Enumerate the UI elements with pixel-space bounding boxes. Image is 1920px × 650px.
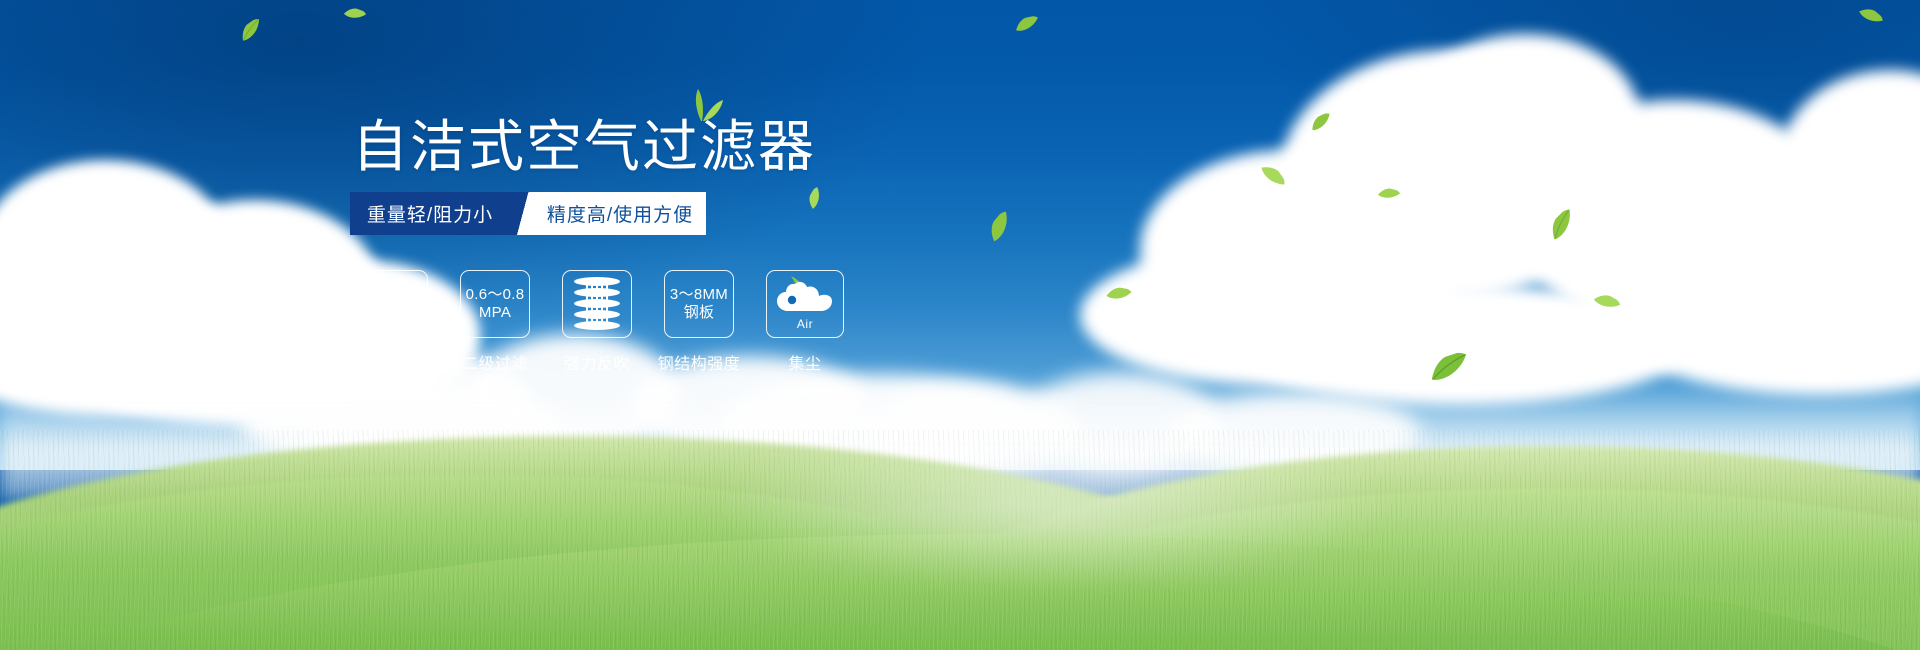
feature-item-steel-strength[interactable]: 3～8MM 钢板 钢结构强度 — [664, 270, 734, 374]
gauge-label-no: NO — [363, 307, 371, 324]
pressure-text-icon: 0.6～0.8 MPA — [466, 286, 525, 322]
feature-item-controller[interactable]: NO OFF 控制仪 — [358, 270, 428, 374]
air-cloud-icon: Air — [775, 276, 835, 332]
feature-caption-reverse-blow: 强力反吹 — [564, 350, 630, 374]
steel-material: 钢板 — [670, 304, 728, 322]
tab-precision-convenience[interactable]: 精度高/使用方便 — [534, 192, 706, 235]
feature-item-dust-collection[interactable]: Air 集尘 — [766, 270, 844, 374]
steel-thickness: 3～8MM — [670, 286, 728, 304]
air-label: Air — [775, 315, 835, 333]
control-gauge-icon: NO OFF — [361, 273, 425, 335]
tab-divider — [510, 192, 534, 235]
feature-box-pressure: 0.6～0.8 MPA — [460, 270, 530, 338]
steel-plate-text-icon: 3～8MM 钢板 — [670, 286, 728, 322]
gauge-label-off: OFF — [404, 321, 414, 338]
tab-weight-resistance[interactable]: 重量轻/阻力小 — [350, 192, 510, 235]
filter-stack-icon — [574, 277, 620, 331]
feature-caption-steel-strength: 钢结构强度 — [658, 350, 741, 374]
page-title: 自洁式空气过滤器 — [352, 118, 816, 176]
feature-caption-dust-collection: 集尘 — [788, 350, 821, 374]
feature-tabs: 重量轻/阻力小 精度高/使用方便 — [350, 192, 706, 235]
feature-box-controller: NO OFF — [358, 270, 428, 338]
feature-caption-controller: 控制仪 — [368, 350, 418, 374]
gauge-needle — [390, 287, 397, 325]
feature-list: NO OFF 控制仪 0.6～0.8 MPA 二级过滤 — [358, 270, 844, 374]
pressure-value: 0.6～0.8 — [466, 286, 525, 304]
product-banner: 自洁式空气过滤器 重量轻/阻力小 精度高/使用方便 — [0, 0, 1920, 650]
feature-box-reverse-blow — [562, 270, 632, 338]
feature-item-reverse-blow[interactable]: 强力反吹 — [562, 270, 632, 374]
feature-caption-filtration: 二级过滤 — [462, 350, 528, 374]
pressure-unit: MPA — [466, 304, 525, 322]
banner-content: 自洁式空气过滤器 重量轻/阻力小 精度高/使用方便 — [0, 0, 1920, 650]
feature-box-steel-plate: 3～8MM 钢板 — [664, 270, 734, 338]
feature-box-air-cloud: Air — [766, 270, 844, 338]
feature-item-filtration[interactable]: 0.6～0.8 MPA 二级过滤 — [460, 270, 530, 374]
